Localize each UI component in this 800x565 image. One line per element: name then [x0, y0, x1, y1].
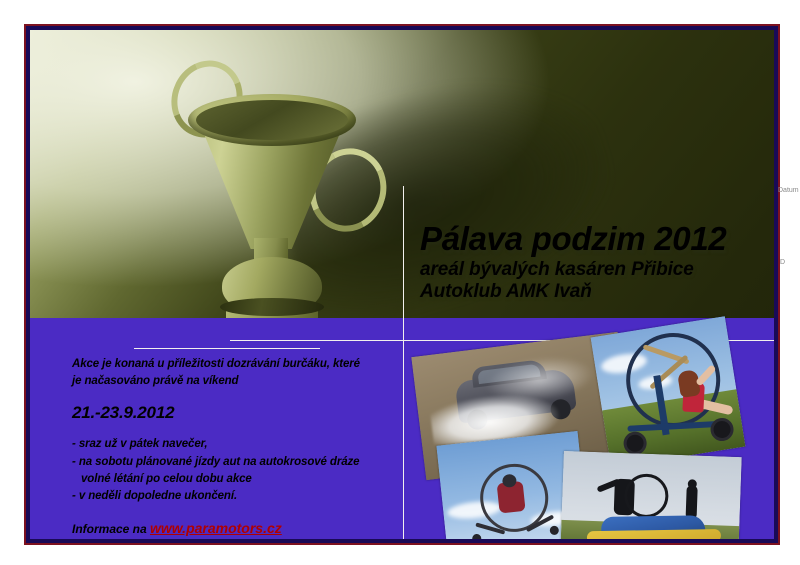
poster-slide: Pálava podzim 2012 areál bývalých kasáre… [24, 24, 780, 545]
vertical-divider-rule [403, 186, 404, 545]
woman-paramotor-trike-photo [591, 316, 746, 468]
intro-line-1: Akce je konaná u příležitosti dozrávání … [72, 356, 390, 373]
photo-collage [410, 326, 780, 545]
contact-info-line: Informace na www.paramotors.cz [72, 520, 282, 536]
edge-label-datum: Datum [778, 187, 800, 194]
program-bullet-list: - sraz už v pátek navečer, - na sobotu p… [72, 436, 390, 505]
list-item: volné létání po celou dobu akce [72, 471, 390, 488]
list-item: - sraz už v pátek navečer, [72, 436, 390, 453]
second-pilot [686, 485, 698, 519]
trophy-illustration [150, 52, 390, 318]
trophy-bowl-interior [196, 100, 348, 140]
intro-line-2: je načasováno právě na víkend [72, 373, 390, 390]
paraglider-pilots-ground-photo [560, 451, 742, 545]
trophy-cup-photo: Pálava podzim 2012 areál bývalých kasáre… [30, 30, 778, 318]
edge-label-datum-secondary: D [780, 259, 800, 266]
event-description-block: Akce je konaná u příležitosti dozrávání … [72, 356, 390, 505]
event-organizer: Autoklub AMK Ivaň [420, 281, 726, 303]
page-title: Pálava podzim 2012 [420, 222, 726, 256]
horizontal-divider-rule-bottom [134, 348, 320, 349]
website-link[interactable]: www.paramotors.cz [150, 520, 282, 536]
info-prefix-label: Informace na [72, 522, 150, 536]
title-block: Pálava podzim 2012 areál bývalých kasáre… [420, 222, 726, 303]
event-date: 21.-23.9.2012 [72, 403, 390, 423]
event-venue: areál bývalých kasáren Přibice [420, 259, 726, 281]
glider-canopy-yellow [587, 529, 721, 544]
trophy-base-ring [220, 298, 324, 316]
list-item: - v neděli dopoledne ukončení. [72, 488, 390, 505]
list-item: - na sobotu plánované jízdy aut na autok… [72, 454, 390, 471]
